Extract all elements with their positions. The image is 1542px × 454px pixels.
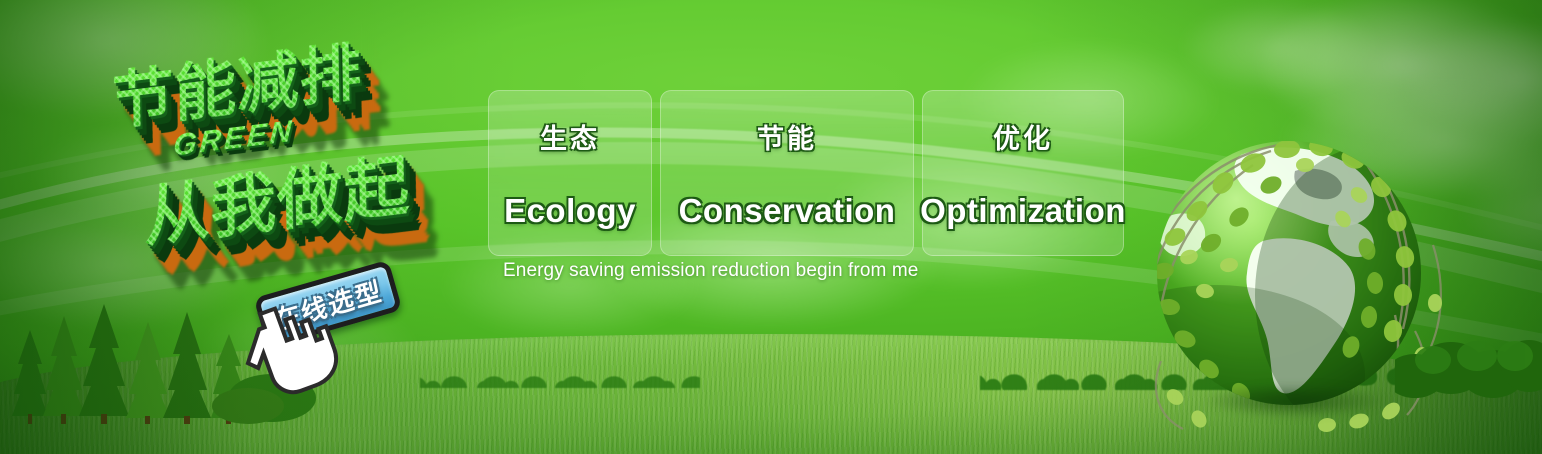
feature-card-cn-label: 节能 [757,117,817,156]
feature-card-conservation[interactable]: 节能 Conservation [660,90,914,256]
tagline-text: Energy saving emission reduction begin f… [503,260,918,282]
feature-card-ecology[interactable]: 生态 Ecology [488,90,652,256]
feature-card-cn-label: 生态 [540,117,600,156]
pointing-hand-cursor-icon [240,300,340,405]
feature-card-en-label: Optimization [920,192,1126,230]
feature-card-en-label: Ecology [504,192,636,230]
headline-3d-text: 节能减排 GREEN 从我做起 [95,36,495,266]
feature-card-en-label: Conservation [679,192,896,230]
globe-shadow [1165,377,1425,425]
feature-card-list: 生态 Ecology 节能 Conservation 优化 Optimizati… [488,90,1124,256]
eco-hero-banner: 节能减排 GREEN 从我做起 在线选型 生态 Ecology 节能 Conse… [0,0,1542,454]
feature-card-cn-label: 优化 [993,117,1053,156]
bush-cluster-icon [1395,330,1542,400]
feature-card-optimization[interactable]: 优化 Optimization [922,90,1124,256]
